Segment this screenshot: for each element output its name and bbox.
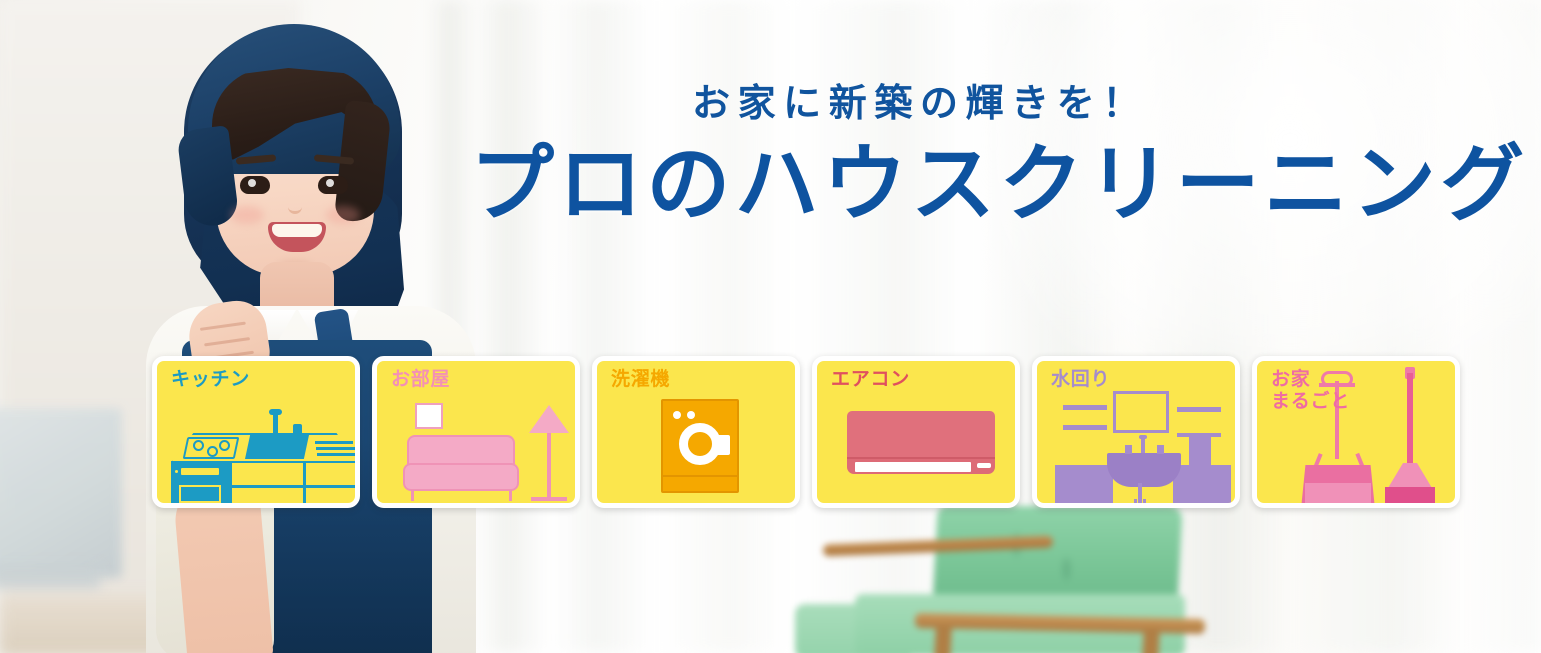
service-card-label: キッチン <box>171 369 250 391</box>
background-green-armchair <box>795 498 1225 653</box>
service-card-kitchen[interactable]: キッチン <box>152 356 360 508</box>
service-card-label: お部屋 <box>391 369 450 391</box>
headline-block: お家に新築の輝きを！ プロのハウスクリーニング <box>470 72 1370 229</box>
service-card-label: お家 まるごと <box>1271 369 1350 413</box>
service-card-label: エアコン <box>831 369 910 391</box>
service-card-label: 水回り <box>1051 369 1110 391</box>
service-card-label: 洗濯機 <box>611 369 670 391</box>
headline-title: プロのハウスクリーニング <box>470 143 1370 229</box>
cleaning-staff-photo <box>64 10 484 653</box>
service-card-list: キッチン <box>152 356 1460 508</box>
service-card-whole-house[interactable]: お家 まるごと <box>1252 356 1460 508</box>
service-card-water-areas[interactable]: 水回り <box>1032 356 1240 508</box>
hero-banner: お家に新築の輝きを！ プロのハウスクリーニング キッチン <box>0 0 1541 653</box>
service-card-washing-machine[interactable]: 洗濯機 <box>592 356 800 508</box>
headline-subtitle: お家に新築の輝きを！ <box>470 72 1370 127</box>
service-card-room[interactable]: お部屋 <box>372 356 580 508</box>
service-card-air-conditioner[interactable]: エアコン <box>812 356 1020 508</box>
